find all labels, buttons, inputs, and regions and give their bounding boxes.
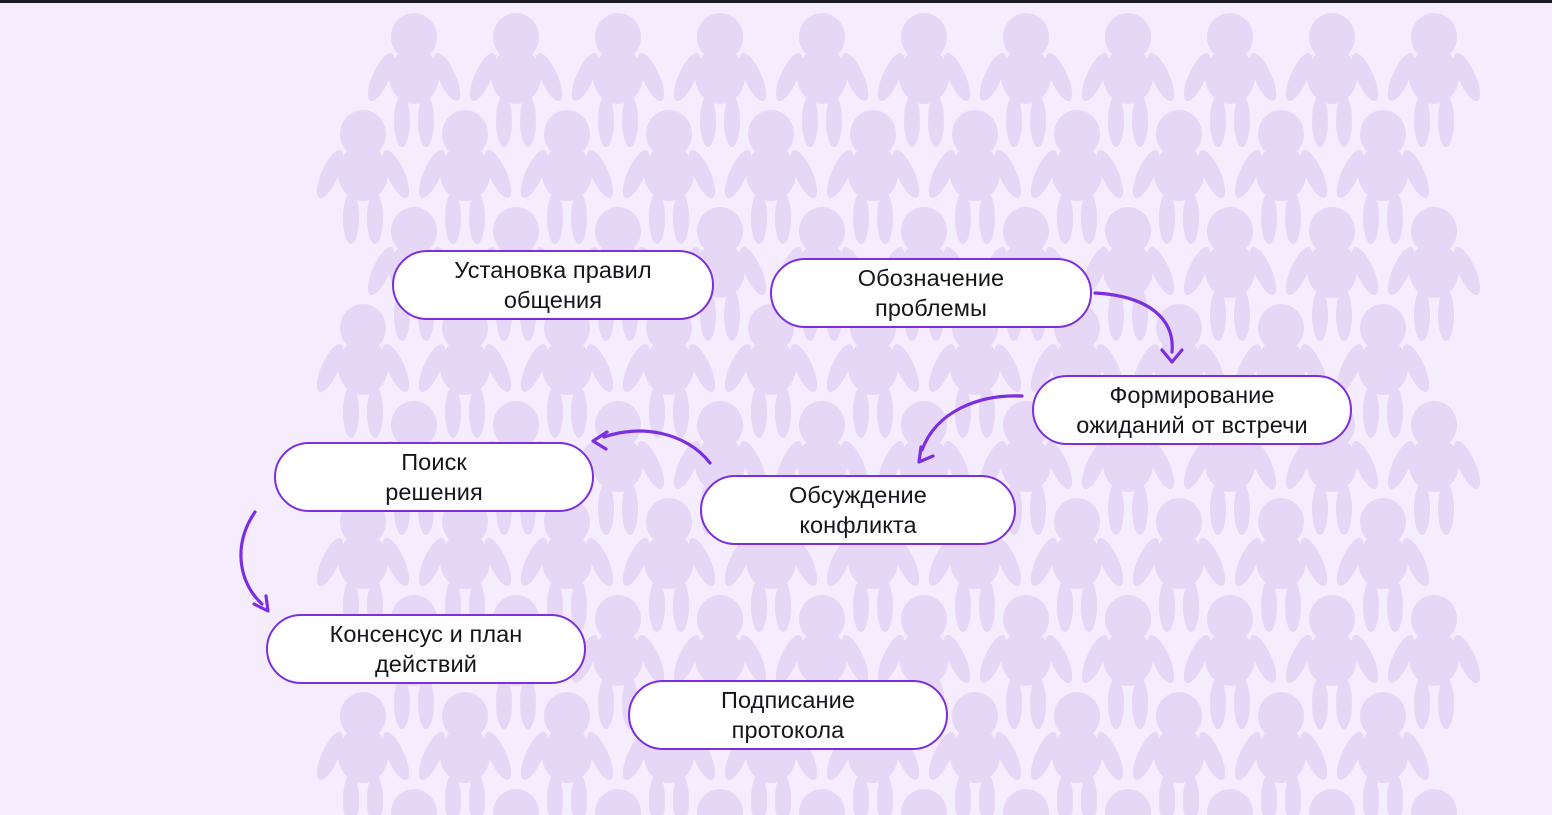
node-podpisanie-protokola[interactable]: Подписание протокола — [628, 680, 948, 750]
node-obsuzhdenie-konflikta[interactable]: Обсуждение конфликта — [700, 475, 1016, 545]
node-obsuzhdenie-konflikta-label: Обсуждение конфликта — [789, 480, 927, 540]
node-layer: Установка правил общенияОбозначение проб… — [0, 0, 1552, 815]
node-formirovanie-ozhidaniy-ot-vstrechi-label: Формирование ожиданий от встречи — [1076, 380, 1307, 440]
diagram-canvas: Установка правил общенияОбозначение проб… — [0, 0, 1552, 815]
node-podpisanie-protokola-label: Подписание протокола — [721, 685, 855, 745]
node-konsensus-i-plan-deystviy[interactable]: Консенсус и план действий — [266, 614, 586, 684]
node-konsensus-i-plan-deystviy-label: Консенсус и план действий — [330, 619, 523, 679]
node-oboznachenie-problemy[interactable]: Обозначение проблемы — [770, 258, 1092, 328]
node-ustanovka-pravil-obshcheniya[interactable]: Установка правил общения — [392, 250, 714, 320]
top-edge-rule — [0, 0, 1552, 3]
node-ustanovka-pravil-obshcheniya-label: Установка правил общения — [454, 255, 651, 315]
node-poisk-resheniya[interactable]: Поиск решения — [274, 442, 594, 512]
node-formirovanie-ozhidaniy-ot-vstrechi[interactable]: Формирование ожиданий от встречи — [1032, 375, 1352, 445]
node-oboznachenie-problemy-label: Обозначение проблемы — [858, 263, 1004, 323]
node-poisk-resheniya-label: Поиск решения — [385, 447, 483, 507]
